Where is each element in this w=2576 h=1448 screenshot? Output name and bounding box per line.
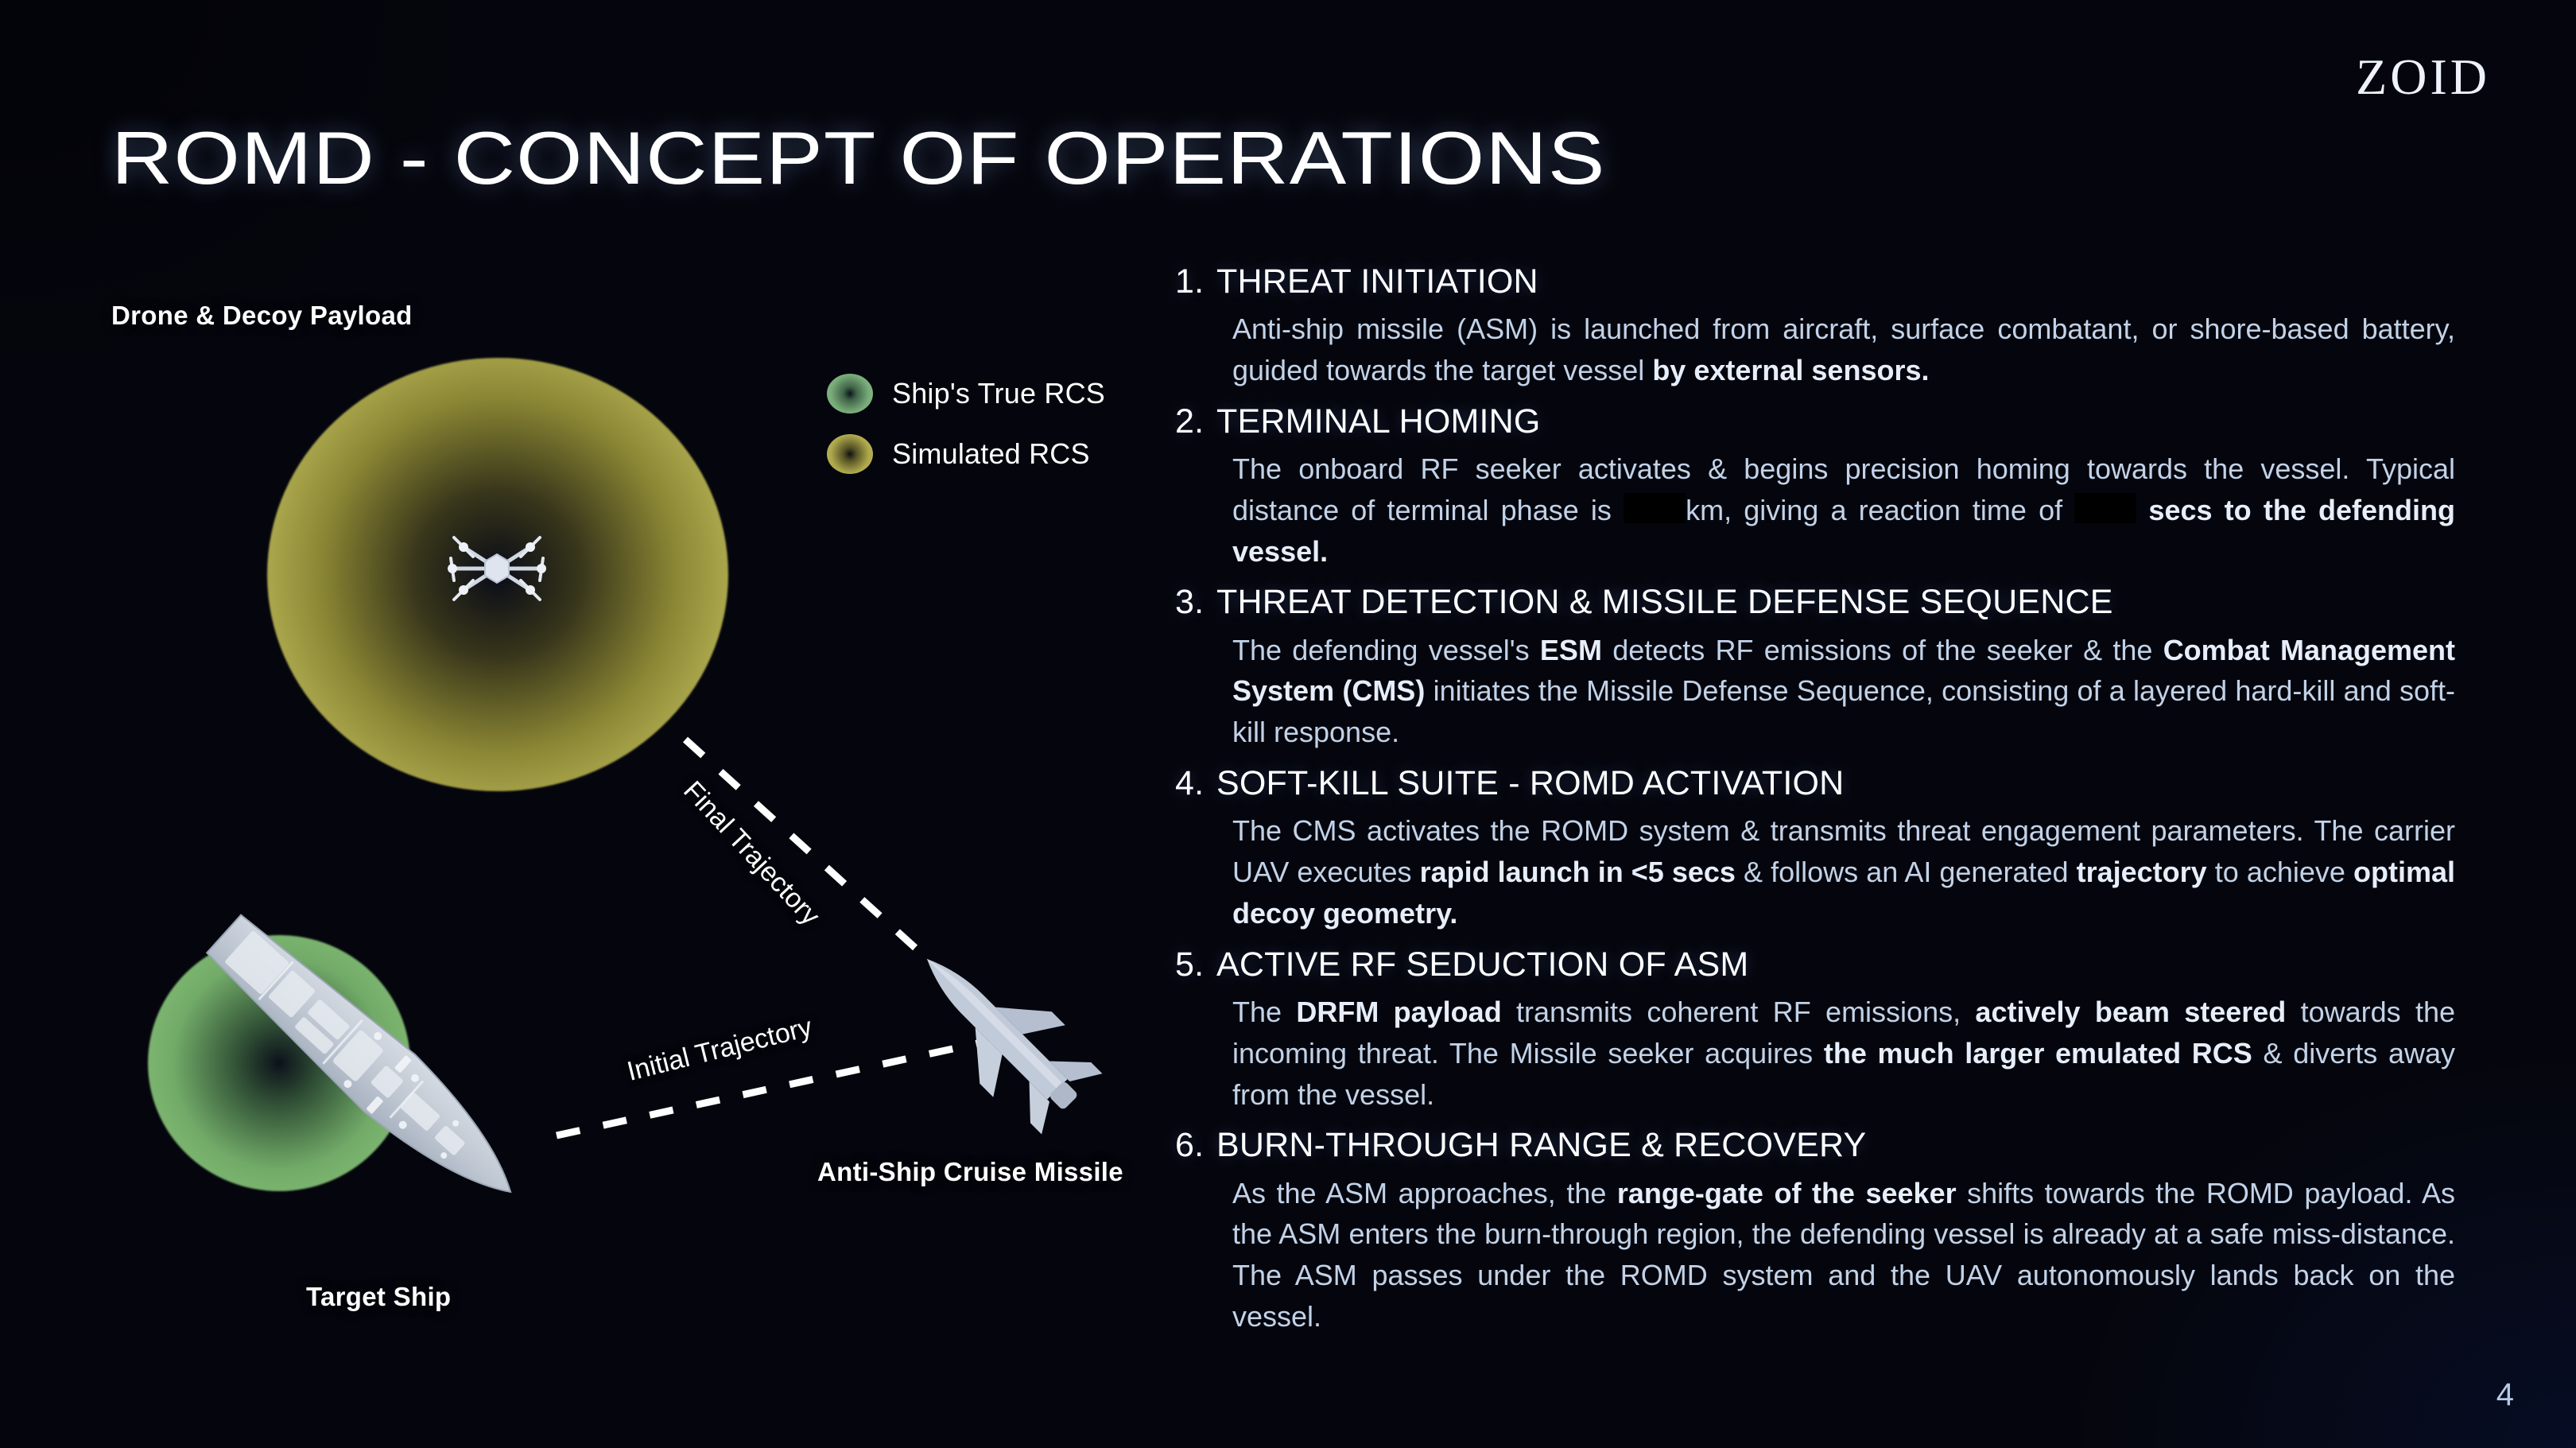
step-heading: 1.THREAT INITIATION <box>1175 262 2455 301</box>
step-heading: 5.ACTIVE RF SEDUCTION OF ASM <box>1175 945 2455 984</box>
legend-item-simulated-rcs: Simulated RCS <box>827 434 1105 474</box>
step-heading: 6.BURN-THROUGH RANGE & RECOVERY <box>1175 1126 2455 1164</box>
conops-step: 4.SOFT-KILL SUITE - ROMD ACTIVATIONThe C… <box>1175 764 2455 934</box>
step-title: SOFT-KILL SUITE - ROMD ACTIVATION <box>1216 764 1844 802</box>
step-number: 5. <box>1175 945 1216 984</box>
step-body: The CMS activates the ROMD system & tran… <box>1232 810 2455 934</box>
true-rcs-swatch-icon <box>827 374 873 413</box>
step-body-text: As the ASM approaches, the <box>1232 1177 1617 1209</box>
step-body-emphasis: rapid launch in <5 secs <box>1420 856 1736 888</box>
slide-root: ZOID ROMD - CONCEPT OF OPERATIONS 4 <box>0 0 2576 1448</box>
step-body-text: km, giving a reaction time of <box>1686 494 2074 526</box>
step-body-text: The <box>1232 996 1296 1028</box>
step-title: THREAT INITIATION <box>1216 262 1538 301</box>
label-drone-decoy-payload: Drone & Decoy Payload <box>111 301 413 331</box>
step-number: 2. <box>1175 402 1216 441</box>
step-number: 1. <box>1175 262 1216 301</box>
conops-steps-list: 1.THREAT INITIATIONAnti-ship missile (AS… <box>1175 262 2455 1349</box>
step-heading: 4.SOFT-KILL SUITE - ROMD ACTIVATION <box>1175 764 2455 802</box>
step-body-emphasis: the much larger emulated RCS <box>1824 1037 2252 1070</box>
step-body-text: & follows an AI generated <box>1736 856 2077 888</box>
conops-step: 1.THREAT INITIATIONAnti-ship missile (AS… <box>1175 262 2455 391</box>
step-number: 4. <box>1175 764 1216 802</box>
zoid-logo: ZOID <box>2356 48 2490 107</box>
conops-step: 6.BURN-THROUGH RANGE & RECOVERYAs the AS… <box>1175 1126 2455 1337</box>
step-body-emphasis: DRFM payload <box>1296 996 1501 1028</box>
step-heading: 3.THREAT DETECTION & MISSILE DEFENSE SEQ… <box>1175 583 2455 621</box>
step-body-emphasis: range-gate of the seeker <box>1617 1177 1957 1209</box>
conops-step: 5.ACTIVE RF SEDUCTION OF ASMThe DRFM pay… <box>1175 945 2455 1116</box>
redacted-value <box>2074 493 2136 523</box>
step-body: Anti-ship missile (ASM) is launched from… <box>1232 309 2455 391</box>
step-body-text: to achieve <box>2207 856 2353 888</box>
legend-label-simulated-rcs: Simulated RCS <box>892 437 1090 471</box>
step-title: TERMINAL HOMING <box>1216 402 1541 441</box>
step-body-text: detects RF emissions of the seeker & the <box>1602 634 2163 666</box>
step-number: 3. <box>1175 583 1216 621</box>
step-body: The DRFM payload transmits coherent RF e… <box>1232 992 2455 1115</box>
step-body: The defending vessel's ESM detects RF em… <box>1232 630 2455 753</box>
page-number: 4 <box>2496 1377 2514 1413</box>
page-title: ROMD - CONCEPT OF OPERATIONS <box>111 121 1606 196</box>
conops-diagram: Drone & Decoy Payload Target Ship Anti-S… <box>0 0 1161 1448</box>
label-anti-ship-cruise-missile: Anti-Ship Cruise Missile <box>817 1157 1123 1187</box>
step-title: BURN-THROUGH RANGE & RECOVERY <box>1216 1126 1866 1164</box>
legend-label-true-rcs: Ship's True RCS <box>892 377 1105 410</box>
step-body-text: The defending vessel's <box>1232 634 1540 666</box>
step-body-text: transmits coherent RF emissions, <box>1502 996 1976 1028</box>
conops-step: 2.TERMINAL HOMINGThe onboard RF seeker a… <box>1175 402 2455 573</box>
trajectory-lines <box>0 0 1161 1448</box>
step-title: ACTIVE RF SEDUCTION OF ASM <box>1216 945 1748 984</box>
step-body: As the ASM approaches, the range-gate of… <box>1232 1173 2455 1337</box>
step-body-emphasis: by external sensors. <box>1652 354 1929 386</box>
conops-step: 3.THREAT DETECTION & MISSILE DEFENSE SEQ… <box>1175 583 2455 753</box>
step-body-emphasis: actively beam steered <box>1975 996 2286 1028</box>
step-body-emphasis: ESM <box>1540 634 1602 666</box>
step-title: THREAT DETECTION & MISSILE DEFENSE SEQUE… <box>1216 583 2113 621</box>
rcs-legend: Ship's True RCS Simulated RCS <box>827 374 1105 495</box>
redacted-value <box>1624 493 1686 523</box>
drone-uav-icon <box>441 517 553 620</box>
simulated-rcs-swatch-icon <box>827 434 873 474</box>
step-heading: 2.TERMINAL HOMING <box>1175 402 2455 441</box>
step-number: 6. <box>1175 1126 1216 1164</box>
step-body-emphasis: trajectory <box>2077 856 2207 888</box>
anti-ship-cruise-missile-icon <box>884 916 1123 1155</box>
legend-item-true-rcs: Ship's True RCS <box>827 374 1105 413</box>
step-body: The onboard RF seeker activates & begins… <box>1232 448 2455 572</box>
label-target-ship: Target Ship <box>306 1282 451 1312</box>
